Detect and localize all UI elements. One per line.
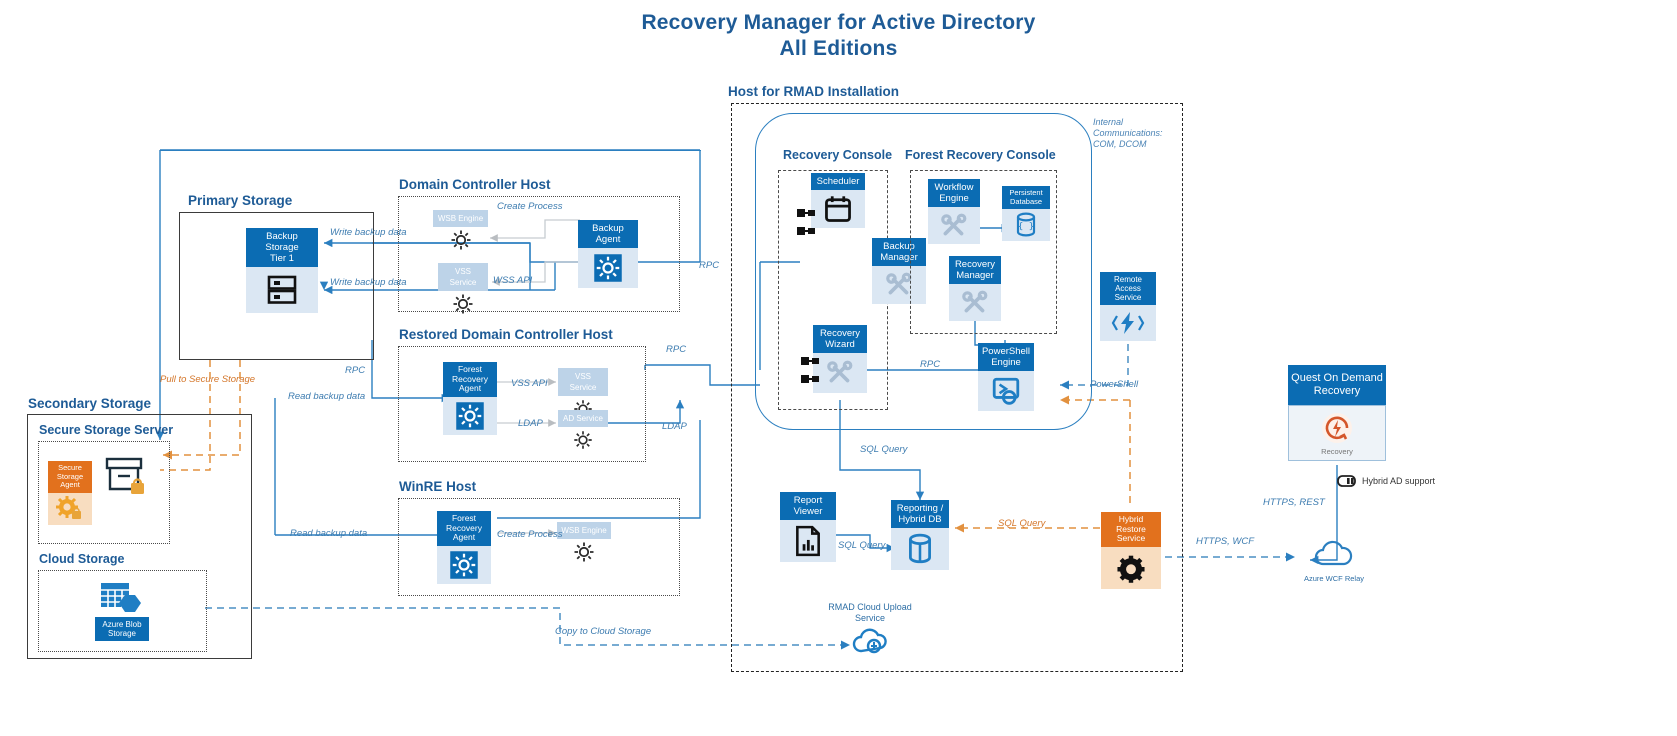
gear-icon-svg xyxy=(455,401,485,431)
node-recovery-manager[interactable]: Recovery Manager xyxy=(949,256,1001,321)
node-azure-blob-storage[interactable]: Azure Blob Storage xyxy=(95,581,149,641)
node-label-line1: Workflow xyxy=(931,182,977,193)
edge-sql-query-report: SQL Query xyxy=(838,540,885,551)
label-cloud-storage: Cloud Storage xyxy=(39,552,124,566)
cloud-icon xyxy=(1312,542,1356,568)
internal-communications-note: Internal Communications: COM, DCOM xyxy=(1093,117,1163,150)
node-label-line3: Agent xyxy=(446,384,494,394)
edge-rpc-rdc: RPC xyxy=(666,344,686,355)
database-icon-svg: { } xyxy=(1015,212,1037,238)
node-hybrid-restore-service[interactable]: Hybrid Restore Service xyxy=(1101,512,1161,589)
powershell-icon-svg xyxy=(991,376,1021,406)
edge-wss-api: WSS API xyxy=(493,275,532,286)
connector-nodes-icon xyxy=(797,207,819,246)
node-remote-access-service[interactable]: Remote Access Service xyxy=(1100,272,1156,341)
node-header: VSS Service xyxy=(558,368,608,396)
node-scheduler[interactable]: Scheduler xyxy=(811,173,865,228)
recovery-circle-icon: Recovery xyxy=(1288,405,1386,461)
node-header: Forest Recovery Agent xyxy=(437,511,491,546)
node-label-line2: Storage xyxy=(249,242,315,253)
label-winre-host: WinRE Host xyxy=(399,479,476,494)
hybrid-ad-icon xyxy=(1337,474,1357,488)
edge-read-backup-data-1: Read backup data xyxy=(288,391,365,402)
gear-icon xyxy=(1101,547,1161,589)
label-restored-domain-controller-host: Restored Domain Controller Host xyxy=(399,327,613,342)
node-label-line2: Storage xyxy=(98,629,146,638)
report-icon xyxy=(780,520,836,562)
node-header: Forest Recovery Agent xyxy=(443,362,497,397)
node-label-line3: Agent xyxy=(440,533,488,543)
node-header: Azure Blob Storage xyxy=(95,617,149,641)
node-label-line1: Reporting / xyxy=(894,503,946,514)
note-line1: Internal xyxy=(1093,117,1163,128)
node-powershell-engine[interactable]: PowerShell Engine xyxy=(978,343,1034,411)
node-label-line1: Azure Blob xyxy=(98,620,146,629)
hybrid-ad-support-label: Hybrid AD support xyxy=(1362,476,1435,487)
node-caption: Recovery xyxy=(1321,447,1353,456)
lightning-icon xyxy=(1100,305,1156,341)
node-header: WSB Engine xyxy=(433,210,488,227)
gear-icon xyxy=(578,248,638,288)
node-label-line1: Quest On Demand xyxy=(1291,372,1383,385)
calendar-icon-svg xyxy=(823,194,853,224)
node-label-line2: Database xyxy=(1005,198,1047,207)
label-primary-storage: Primary Storage xyxy=(188,193,292,208)
tools-icon xyxy=(928,207,980,244)
node-label-line2: Recovery xyxy=(1291,385,1383,398)
node-header: Secure Storage Agent xyxy=(48,461,92,493)
node-header: Quest On Demand Recovery xyxy=(1288,365,1386,405)
tools-icon-svg xyxy=(826,359,854,387)
gear-icon xyxy=(558,427,608,453)
label-forest-recovery-console: Forest Recovery Console xyxy=(905,148,1056,162)
svg-text:{ }: { } xyxy=(1018,222,1034,232)
node-vss-service-dc[interactable]: VSS Service xyxy=(438,263,488,317)
tools-icon xyxy=(949,284,1001,321)
gear-lock-icon xyxy=(48,493,92,525)
node-header: Remote Access Service xyxy=(1100,272,1156,305)
node-header: Hybrid Restore Service xyxy=(1101,512,1161,547)
edge-ldap-left: LDAP xyxy=(518,418,543,429)
restored-domain-controller-host-box xyxy=(398,346,646,462)
node-quest-on-demand-recovery[interactable]: Quest On Demand Recovery Recovery xyxy=(1288,365,1386,461)
gear-icon xyxy=(443,397,497,435)
gear-icon-svg xyxy=(1115,552,1147,584)
azure-wcf-relay-label: Azure WCF Relay xyxy=(1294,573,1374,584)
node-label-line3: Tier 1 xyxy=(249,253,315,264)
archive-lock-icon-svg xyxy=(104,455,152,499)
gear-icon-svg xyxy=(449,550,479,580)
node-forest-recovery-agent-rdc[interactable]: Forest Recovery Agent xyxy=(443,362,497,435)
node-label-line2: Manager xyxy=(952,270,998,281)
node-label-line2: Wizard xyxy=(816,339,864,350)
tools-icon-svg xyxy=(885,271,913,299)
tools-icon-svg xyxy=(961,289,989,317)
gear-icon xyxy=(437,546,491,584)
edge-create-process-dc: Create Process xyxy=(497,201,562,212)
calendar-icon xyxy=(811,190,865,228)
recovery-circle-icon-svg xyxy=(1320,411,1354,445)
node-header: Reporting / Hybrid DB xyxy=(891,500,949,528)
gear-icon xyxy=(438,291,488,317)
edge-pull-to-secure-storage: Pull to Secure Storage xyxy=(160,374,255,385)
node-label-line2: Hybrid DB xyxy=(894,514,946,525)
node-persistent-database[interactable]: Persistent Database { } xyxy=(1002,186,1050,241)
node-label-line2: Service xyxy=(1103,293,1153,302)
label-host-for-rmad: Host for RMAD Installation xyxy=(728,84,899,99)
server-icon xyxy=(246,267,318,313)
gear-icon-svg xyxy=(451,292,475,316)
node-header: Backup Storage Tier 1 xyxy=(246,228,318,267)
cloud-upload-icon xyxy=(850,625,892,662)
edge-vss-api: VSS API xyxy=(511,378,548,389)
tools-icon-svg xyxy=(940,212,968,240)
node-label-line2: Engine xyxy=(981,357,1031,368)
node-reporting-hybrid-db[interactable]: Reporting / Hybrid DB xyxy=(891,500,949,570)
node-header: AD Service xyxy=(558,410,608,427)
edge-powershell: PowerShell xyxy=(1090,379,1138,390)
edge-read-backup-data-2: Read backup data xyxy=(290,528,367,539)
node-label-line1: Recovery xyxy=(952,259,998,270)
node-header: Report Viewer xyxy=(780,492,836,520)
node-label-line1: Recovery xyxy=(816,328,864,339)
node-wsb-engine-dc[interactable]: WSB Engine xyxy=(433,210,488,253)
node-label-line1: Hybrid Restore xyxy=(1104,515,1158,534)
edge-copy-to-cloud-storage: Copy to Cloud Storage xyxy=(555,626,651,637)
node-backup-agent[interactable]: Backup Agent xyxy=(578,220,638,288)
node-forest-recovery-agent-winre[interactable]: Forest Recovery Agent xyxy=(437,511,491,584)
edge-write-backup-data-2: Write backup data xyxy=(330,277,407,288)
node-backup-storage-tier1[interactable]: Backup Storage Tier 1 xyxy=(246,228,318,313)
edge-https-rest: HTTPS, REST xyxy=(1263,497,1325,508)
node-workflow-engine[interactable]: Workflow Engine xyxy=(928,179,980,244)
database-icon-svg xyxy=(906,533,934,565)
gear-icon-svg xyxy=(572,540,596,564)
edge-create-process-winre: Create Process xyxy=(497,529,562,540)
wizard-connector-icons xyxy=(801,355,823,394)
node-label-line2: Engine xyxy=(931,193,977,204)
node-header: Recovery Manager xyxy=(949,256,1001,284)
edge-rpc-dc: RPC xyxy=(699,260,719,271)
node-ad-service-rdc[interactable]: AD Service xyxy=(558,410,608,453)
gear-icon-svg xyxy=(593,253,623,283)
edge-rpc-left: RPC xyxy=(345,365,365,376)
azure-wcf-relay: Azure WCF Relay xyxy=(1294,542,1374,584)
edge-sql-query-top: SQL Query xyxy=(860,444,907,455)
node-header: Workflow Engine xyxy=(928,179,980,207)
node-header: VSS Service xyxy=(438,263,488,291)
connector-nodes-icon-svg xyxy=(801,355,823,389)
database-icon: { } xyxy=(1002,209,1050,241)
gear-icon-svg xyxy=(572,429,594,451)
note-line3: COM, DCOM xyxy=(1093,139,1163,150)
node-wsb-engine-winre[interactable]: WSB Engine xyxy=(557,522,611,565)
edge-ldap-right: LDAP xyxy=(662,421,687,432)
cloud-upload-icon-svg xyxy=(850,625,892,657)
node-header: Scheduler xyxy=(811,173,865,190)
node-header: WSB Engine xyxy=(557,522,611,539)
node-secure-storage-agent[interactable]: Secure Storage Agent xyxy=(48,461,92,525)
node-header: Persistent Database xyxy=(1002,186,1050,209)
gear-icon-svg xyxy=(449,228,473,252)
label-line1: RMAD Cloud Upload xyxy=(810,602,930,613)
node-label-line2: Service xyxy=(1104,534,1158,544)
left-outer-blue-box xyxy=(160,150,701,151)
connector-nodes-icon-svg xyxy=(797,207,819,241)
edge-sql-query-hybrid: SQL Query xyxy=(998,518,1045,529)
secure-archive-icon xyxy=(104,455,152,504)
edge-https-wcf: HTTPS, WCF xyxy=(1196,536,1254,547)
gear-icon xyxy=(557,539,611,565)
report-icon-svg xyxy=(794,525,822,557)
node-report-viewer[interactable]: Report Viewer xyxy=(780,492,836,562)
lightning-icon-svg xyxy=(1113,310,1143,336)
powershell-icon xyxy=(978,371,1034,411)
gear-icon xyxy=(433,227,488,253)
server-icon-svg xyxy=(267,274,297,306)
node-label-line3: Agent xyxy=(51,481,89,490)
azure-blob-icon-svg xyxy=(99,581,145,617)
note-line2: Communications: xyxy=(1093,128,1163,139)
node-header: PowerShell Engine xyxy=(978,343,1034,371)
database-icon xyxy=(891,528,949,570)
hybrid-ad-support-row: Hybrid AD support xyxy=(1337,474,1435,488)
label-recovery-console: Recovery Console xyxy=(783,148,892,162)
label-rmad-cloud-upload-service: RMAD Cloud Upload Service xyxy=(810,602,930,624)
azure-blob-icon xyxy=(95,581,149,617)
edge-write-backup-data-1: Write backup data xyxy=(330,227,407,238)
node-label-line1: PowerShell xyxy=(981,346,1031,357)
node-header: Backup Agent xyxy=(578,220,638,248)
label-line2: Service xyxy=(810,613,930,624)
gear-lock-icon-svg xyxy=(55,496,85,522)
node-label-line1: Remote Access xyxy=(1103,275,1153,293)
node-label-line1: Backup xyxy=(249,231,315,242)
label-domain-controller-host: Domain Controller Host xyxy=(399,177,551,192)
label-secondary-storage: Secondary Storage xyxy=(28,396,151,411)
edge-rpc-center: RPC xyxy=(920,359,940,370)
node-header: Recovery Wizard xyxy=(813,325,867,353)
label-secure-storage-server: Secure Storage Server xyxy=(39,423,173,437)
